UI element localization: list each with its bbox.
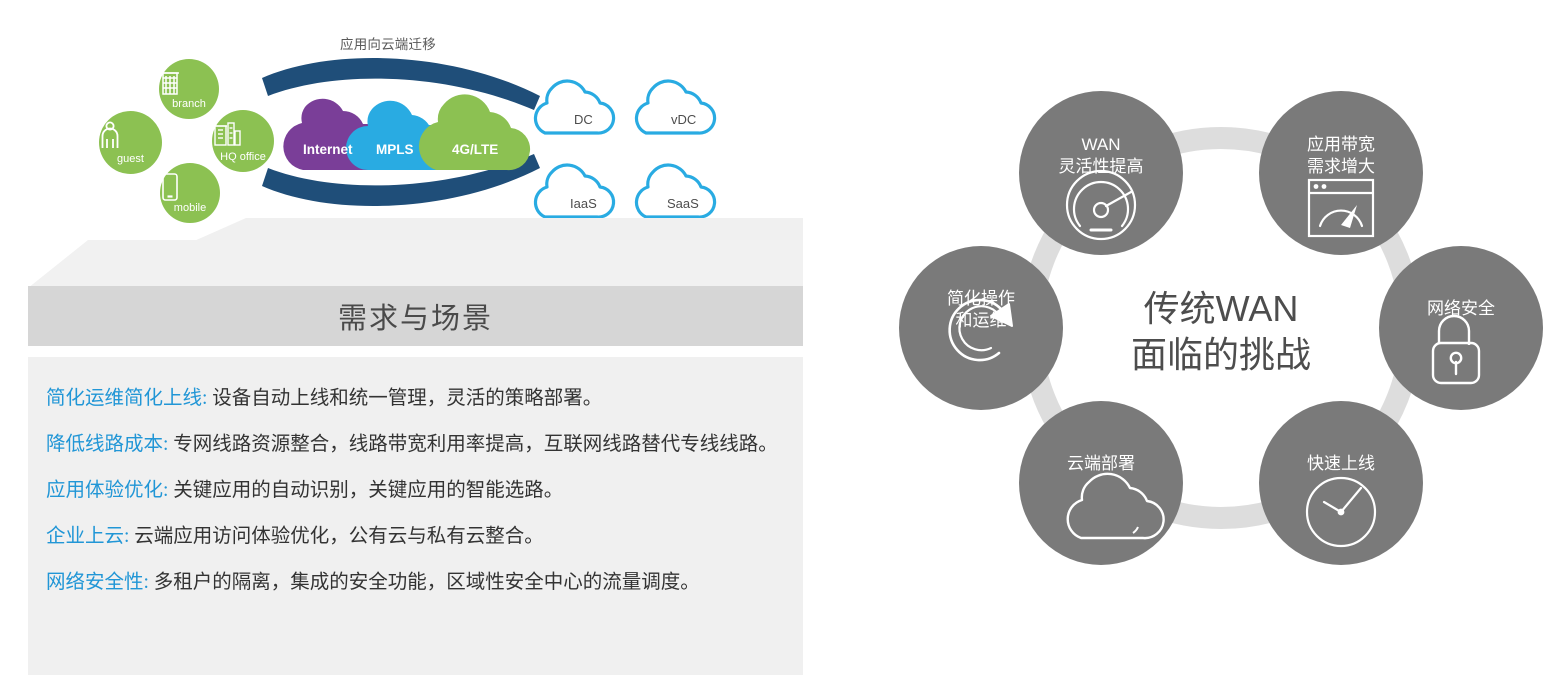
bullet-heading: 网络安全性: [46,572,149,593]
section-header-bar: 需求与场景 [28,286,803,346]
endpoint-branch[interactable]: branch [159,59,219,119]
endpoint-label: mobile [174,203,206,214]
diagram-center-title: 传统WAN 面临的挑战 [1071,286,1371,378]
bullet-heading: 降低线路成本: [46,434,168,455]
platform-shape [0,218,830,288]
section-title: 需求与场景 [338,295,493,337]
cloud-label-mpls: MPLS [376,142,414,157]
list-item: 应用体验优化: 关键应用的自动识别，关键应用的智能选路。 [46,475,785,506]
requirements-list: 简化运维简化上线: 设备自动上线和统一管理，灵活的策略部署。 降低线路成本: 专… [28,357,803,675]
list-item: 简化运维简化上线: 设备自动上线和统一管理，灵活的策略部署。 [46,383,785,414]
wan-challenges-diagram: WAN 灵活性提高 应用带宽 需求增大 网络安全 快速上线 云端部署 简化操作 … [895,40,1547,660]
left-panel: 应用向云端迁移 互联网边缘向分支迁移 guest [0,0,830,694]
bullet-body: 云端应用访问体验优化，公有云与私有云整合。 [134,526,544,547]
endpoint-mobile[interactable]: mobile [160,163,220,223]
bullet-heading: 企业上云: [46,526,129,547]
arc-top-shape [262,58,540,110]
bullet-body: 关键应用的自动识别，关键应用的智能选路。 [173,480,563,501]
node-label-network-security[interactable]: 网络安全 [1381,298,1541,320]
endpoint-label: branch [172,99,206,110]
node-circle-fast-online [1259,401,1423,565]
node-label-wan-flexibility[interactable]: WAN 灵活性提高 [1021,134,1181,178]
cloud-label-4glte: 4G/LTE [452,142,498,157]
cloud-label-vdc: vDC [671,112,696,127]
node-label-cloud-deploy[interactable]: 云端部署 [1021,453,1181,475]
bullet-body: 专网线路资源整合，线路带宽利用率提高，互联网线路替代专线线路。 [173,434,778,455]
cloud-label-internet: Internet [303,142,353,157]
bullet-heading: 简化运维简化上线: [46,388,207,409]
endpoint-label: HQ office [220,152,266,163]
bullet-body: 设备自动上线和统一管理，灵活的策略部署。 [212,388,602,409]
endpoint-hq-office[interactable]: HQ office [212,110,274,172]
bullet-heading: 应用体验优化: [46,480,168,501]
cloud-label-dc: DC [574,112,593,127]
cloud-4glte [419,94,530,170]
node-label-app-bandwidth[interactable]: 应用带宽 需求增大 [1261,134,1421,178]
arc-top-label: 应用向云端迁移 [340,33,436,53]
node-label-simplify-ops[interactable]: 简化操作 和运维 [901,288,1061,332]
node-circle-network-security [1379,246,1543,410]
bullet-body: 多租户的隔离，集成的安全功能，区域性安全中心的流量调度。 [154,572,700,593]
cloud-label-saas: SaaS [667,196,699,211]
endpoint-guest[interactable]: guest [99,111,162,174]
list-item: 网络安全性: 多租户的隔离，集成的安全功能，区域性安全中心的流量调度。 [46,567,785,598]
list-item: 企业上云: 云端应用访问体验优化，公有云与私有云整合。 [46,521,785,552]
endpoint-label: guest [117,154,144,165]
platform-face [28,240,803,288]
list-item: 降低线路成本: 专网线路资源整合，线路带宽利用率提高，互联网线路替代专线线路。 [46,429,785,460]
node-label-fast-online[interactable]: 快速上线 [1261,453,1421,475]
slide-canvas: 应用向云端迁移 互联网边缘向分支迁移 guest [0,0,1547,694]
cloud-label-iaas: IaaS [570,196,597,211]
node-circle-cloud-deploy [1019,401,1183,565]
